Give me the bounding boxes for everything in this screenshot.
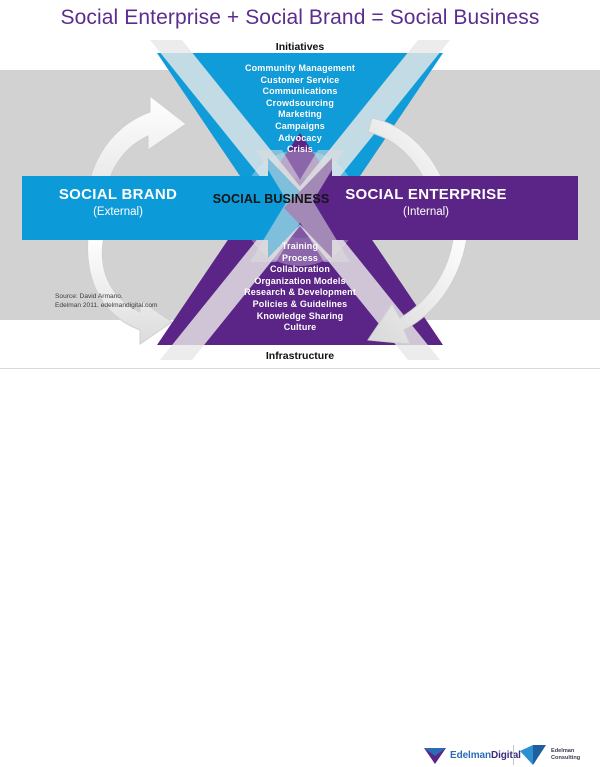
edelman-digital-logo: EdelmanDigital xyxy=(424,745,521,765)
list-item: Crisis xyxy=(180,144,420,156)
list-item: Marketing xyxy=(180,109,420,121)
list-item: Customer Service xyxy=(180,75,420,87)
social-enterprise-label: SOCIAL ENTERPRISE (Internal) xyxy=(336,186,516,218)
list-item: Culture xyxy=(180,322,420,334)
infrastructure-list: Training Process Collaboration Organizat… xyxy=(180,241,420,334)
source-note: Source: David Armano. Edelman 2011. edel… xyxy=(55,292,158,310)
list-item: Process xyxy=(180,253,420,265)
footer: EdelmanDigital Edelman Consulting xyxy=(0,368,600,407)
edelman-consulting-logo: Edelman Consulting xyxy=(520,743,580,767)
digital-word: Digital xyxy=(491,750,521,761)
list-item: Policies & Guidelines xyxy=(180,299,420,311)
edelman-consulting-wordmark: Edelman Consulting xyxy=(551,748,580,761)
footer-divider xyxy=(0,368,600,369)
social-brand-subtitle: (External) xyxy=(28,206,208,218)
list-item: Advocacy xyxy=(180,133,420,145)
list-item: Research & Development xyxy=(180,287,420,299)
source-line-2: Edelman 2011. edelmandigital.com xyxy=(55,301,158,310)
initiatives-list: Community Management Customer Service Co… xyxy=(180,63,420,156)
edelman-digital-mark-icon xyxy=(424,745,446,765)
footer-logo-separator xyxy=(513,745,514,765)
list-item: Collaboration xyxy=(180,264,420,276)
edelman-word: Edelman xyxy=(551,748,580,755)
source-line-1: Source: David Armano. xyxy=(55,292,158,301)
list-item: Training xyxy=(180,241,420,253)
left-rotation-arrow-down xyxy=(88,236,172,344)
edelman-word: Edelman xyxy=(450,750,491,761)
diagram-canvas: Social Enterprise + Social Brand = Socia… xyxy=(0,0,600,407)
social-enterprise-subtitle: (Internal) xyxy=(336,206,516,218)
edelman-digital-wordmark: EdelmanDigital xyxy=(450,750,521,761)
social-brand-label: SOCIAL BRAND (External) xyxy=(28,186,208,218)
list-item: Organization Models xyxy=(180,276,420,288)
consulting-word: Consulting xyxy=(551,755,580,762)
list-item: Communications xyxy=(180,86,420,98)
list-item: Campaigns xyxy=(180,121,420,133)
social-enterprise-title: SOCIAL ENTERPRISE xyxy=(336,186,516,203)
edelman-consulting-mark-icon xyxy=(520,743,546,767)
social-brand-title: SOCIAL BRAND xyxy=(28,186,208,203)
social-business-label: SOCIAL BUSINESS xyxy=(196,192,346,206)
list-item: Knowledge Sharing xyxy=(180,311,420,323)
list-item: Crowdsourcing xyxy=(180,98,420,110)
list-item: Community Management xyxy=(180,63,420,75)
